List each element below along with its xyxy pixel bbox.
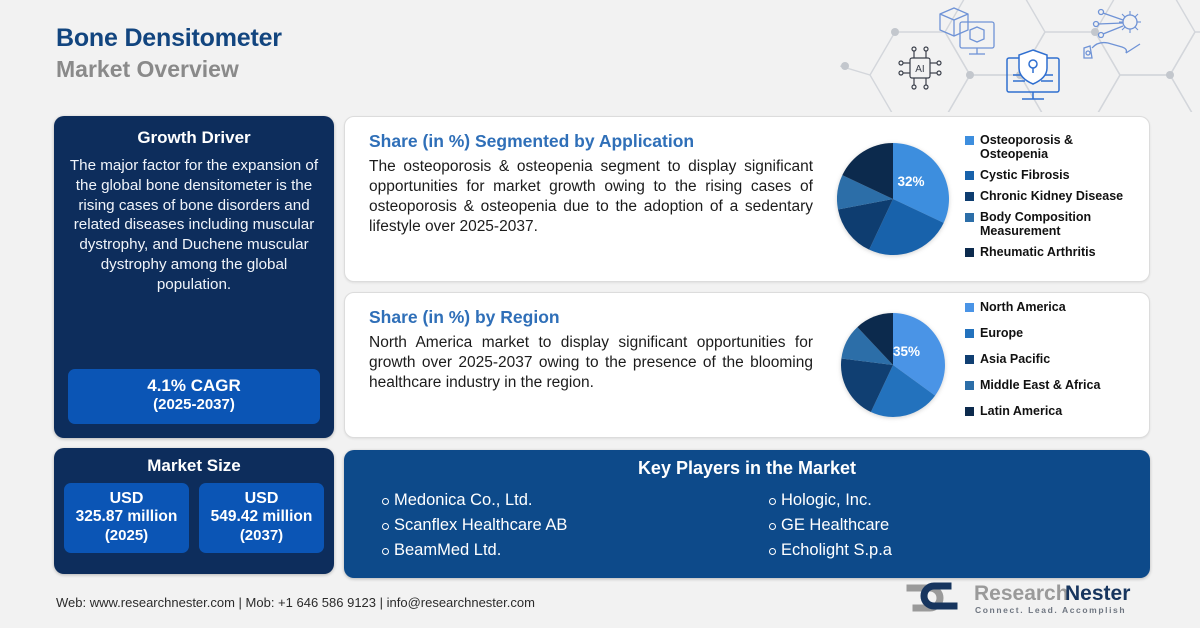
key-players-title: Key Players in the Market — [360, 458, 1134, 479]
legend-item: Rheumatic Arthritis — [965, 245, 1143, 259]
legend-swatch — [965, 171, 974, 180]
legend-swatch — [965, 136, 974, 145]
application-share-card: Share (in %) Segmented by Application Th… — [344, 116, 1150, 282]
application-legend: Osteoporosis & OsteopeniaCystic Fibrosis… — [959, 133, 1143, 266]
legend-swatch — [965, 248, 974, 257]
logo-mark — [910, 586, 954, 608]
page-subtitle: Market Overview — [56, 55, 282, 84]
legend-item: North America — [965, 300, 1143, 314]
bullet-icon — [769, 523, 776, 530]
legend-label: Latin America — [980, 404, 1062, 418]
key-player-name: Echolight S.p.a — [781, 538, 892, 563]
market-size-value: 325.87 million — [66, 508, 187, 527]
legend-swatch — [965, 303, 974, 312]
logo-tagline: Connect. Lead. Accomplish — [975, 605, 1126, 615]
key-player-item: BeamMed Ltd. — [382, 538, 747, 563]
cagr-badge: 4.1% CAGR (2025-2037) — [68, 369, 320, 424]
application-pie-highlight-label: 32% — [897, 174, 924, 189]
key-player-item: Scanflex Healthcare AB — [382, 513, 747, 538]
legend-label: Middle East & Africa — [980, 378, 1100, 392]
market-size-box-2037: USD 549.42 million (2037) — [199, 483, 324, 553]
legend-label: Osteoporosis & Osteopenia — [980, 133, 1143, 161]
bullet-icon — [769, 548, 776, 555]
region-card-title: Share (in %) by Region — [369, 307, 813, 328]
key-players-card: Key Players in the Market Medonica Co., … — [344, 450, 1150, 578]
legend-label: Cystic Fibrosis — [980, 168, 1070, 182]
legend-swatch — [965, 213, 974, 222]
legend-swatch — [965, 407, 974, 416]
region-chart-area: 35% North AmericaEuropeAsia PacificMiddl… — [827, 293, 1149, 437]
key-player-name: Scanflex Healthcare AB — [394, 513, 567, 538]
legend-label: Body Composition Measurement — [980, 210, 1143, 238]
bullet-icon — [382, 523, 389, 530]
logo-text-research: Research — [974, 582, 1069, 605]
region-pie-highlight-label: 35% — [893, 344, 920, 359]
3d-cube-monitor-icon — [940, 8, 994, 54]
key-player-name: GE Healthcare — [781, 513, 889, 538]
cagr-period: (2025-2037) — [72, 396, 316, 415]
currency-label: USD — [66, 489, 187, 508]
key-players-column-left: Medonica Co., Ltd.Scanflex Healthcare AB… — [360, 488, 747, 564]
key-player-item: Echolight S.p.a — [769, 538, 1134, 563]
legend-item: Osteoporosis & Osteopenia — [965, 133, 1143, 161]
key-player-item: Hologic, Inc. — [769, 488, 1134, 513]
legend-label: Europe — [980, 326, 1023, 340]
key-player-name: Hologic, Inc. — [781, 488, 872, 513]
ai-chip-icon: AI — [899, 47, 941, 89]
shield-monitor-icon — [1007, 50, 1059, 99]
region-pie-chart: 35% — [827, 311, 959, 419]
legend-item: Middle East & Africa — [965, 378, 1143, 392]
key-players-columns: Medonica Co., Ltd.Scanflex Healthcare AB… — [360, 488, 1134, 564]
application-chart-area: 32% Osteoporosis & OsteopeniaCystic Fibr… — [827, 117, 1149, 281]
region-legend: North AmericaEuropeAsia PacificMiddle Ea… — [959, 300, 1143, 430]
infographic-page: Bone Densitometer Market Overview — [0, 0, 1200, 628]
hex-decoration: AI — [840, 0, 1200, 112]
application-card-title: Share (in %) Segmented by Application — [369, 131, 813, 152]
market-size-card: Market Size USD 325.87 million (2025) US… — [54, 448, 334, 574]
market-size-boxes: USD 325.87 million (2025) USD 549.42 mil… — [64, 483, 324, 553]
research-nester-logo: Research Nester Connect. Lead. Accomplis… — [902, 576, 1152, 618]
growth-driver-body: The major factor for the expansion of th… — [66, 156, 322, 294]
growth-driver-title: Growth Driver — [66, 128, 322, 148]
legend-item: Chronic Kidney Disease — [965, 189, 1143, 203]
key-player-name: Medonica Co., Ltd. — [394, 488, 533, 513]
key-player-name: BeamMed Ltd. — [394, 538, 501, 563]
market-size-title: Market Size — [64, 456, 324, 476]
legend-label: Asia Pacific — [980, 352, 1050, 366]
legend-swatch — [965, 329, 974, 338]
key-player-item: GE Healthcare — [769, 513, 1134, 538]
legend-label: North America — [980, 300, 1066, 314]
logo-text-nester: Nester — [1065, 582, 1130, 605]
legend-item: Europe — [965, 326, 1143, 340]
legend-swatch — [965, 355, 974, 364]
region-text-block: Share (in %) by Region North America mar… — [345, 293, 827, 437]
bullet-icon — [382, 498, 389, 505]
legend-swatch — [965, 192, 974, 201]
bullet-icon — [382, 548, 389, 555]
legend-item: Cystic Fibrosis — [965, 168, 1143, 182]
legend-swatch — [965, 381, 974, 390]
market-size-value: 549.42 million — [201, 508, 322, 527]
footer-contact: Web: www.researchnester.com | Mob: +1 64… — [56, 595, 535, 610]
legend-label: Chronic Kidney Disease — [980, 189, 1123, 203]
legend-item: Asia Pacific — [965, 352, 1143, 366]
currency-label: USD — [201, 489, 322, 508]
legend-item: Body Composition Measurement — [965, 210, 1143, 238]
page-header: Bone Densitometer Market Overview — [56, 24, 282, 84]
market-size-box-2025: USD 325.87 million (2025) — [64, 483, 189, 553]
growth-driver-card: Growth Driver The major factor for the e… — [54, 116, 334, 438]
application-pie-chart: 32% — [827, 141, 959, 257]
key-player-item: Medonica Co., Ltd. — [382, 488, 747, 513]
application-text-block: Share (in %) Segmented by Application Th… — [345, 117, 827, 281]
region-card-body: North America market to display signific… — [369, 333, 813, 393]
page-title: Bone Densitometer — [56, 24, 282, 53]
cagr-value: 4.1% CAGR — [72, 376, 316, 396]
key-players-column-right: Hologic, Inc.GE HealthcareEcholight S.p.… — [747, 488, 1134, 564]
application-card-body: The osteoporosis & osteopenia segment to… — [369, 157, 813, 238]
market-size-year: (2025) — [66, 527, 187, 545]
region-share-card: Share (in %) by Region North America mar… — [344, 292, 1150, 438]
bullet-icon — [769, 498, 776, 505]
market-size-year: (2037) — [201, 527, 322, 545]
svg-text:AI: AI — [915, 64, 924, 75]
legend-item: Latin America — [965, 404, 1143, 418]
legend-label: Rheumatic Arthritis — [980, 245, 1096, 259]
